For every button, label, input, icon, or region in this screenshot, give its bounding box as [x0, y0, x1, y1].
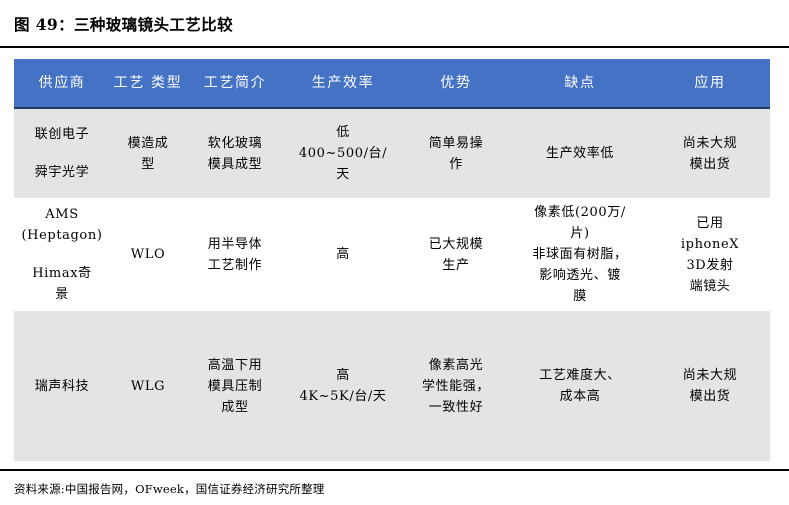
cell-process-type: 模造成 型 [110, 108, 186, 198]
supplier-line-1: 联创电子 [14, 124, 110, 145]
pros-line-1: 像素高光 [402, 355, 510, 376]
process-intro-line-1: 高温下用 [186, 355, 284, 376]
supplier-line-2: (Heptagon) [14, 225, 110, 246]
source-note: 资料来源:中国报告网，OFweek，国信证券经济研究所整理 [14, 482, 325, 496]
process-intro-line-3: 成型 [186, 397, 284, 418]
cell-efficiency: 高 [284, 198, 402, 311]
column-header-process-type-line1: 工艺 [114, 74, 145, 93]
cons-line-1: 工艺难度大、 [510, 365, 650, 386]
efficiency-line-1: 高 [284, 244, 402, 265]
column-header-process-intro-label: 工艺简介 [204, 74, 266, 93]
process-intro-line-2: 模具成型 [186, 154, 284, 175]
efficiency-line-2: 4K~5K/台/天 [284, 386, 402, 407]
cell-process-intro: 用半导体 工艺制作 [186, 198, 284, 311]
cell-pros: 像素高光 学性能强， 一致性好 [402, 311, 510, 461]
efficiency-line-1: 低 [284, 122, 402, 143]
source-divider-rule [0, 469, 789, 471]
column-header-process-type: 工艺 类型 [110, 59, 186, 108]
cell-process-type: WLO [110, 198, 186, 311]
application-line-2: iphoneX [650, 234, 770, 255]
column-header-cons-label: 缺点 [564, 74, 595, 93]
supplier-spacer [14, 246, 110, 263]
cons-line-5: 膜 [510, 286, 650, 307]
process-type-line-2: 型 [110, 154, 186, 175]
cell-cons: 工艺难度大、 成本高 [510, 311, 650, 461]
comparison-table-wrap: 供应商 工艺 类型 工艺简介 生产效率 优势 [14, 59, 770, 461]
column-header-process-type-line2: 类型 [151, 74, 182, 93]
process-type-line-1: 模造成 [110, 133, 186, 154]
efficiency-line-2: 400~500/台/ [284, 143, 402, 164]
figure-page: 图 49：三种玻璃镜头工艺比较 供应商 工艺 [0, 0, 789, 505]
table-row: AMS (Heptagon) Himax奇 景 WLO 用半导体 工艺制作 [14, 198, 770, 311]
supplier-line-1: 瑞声科技 [14, 376, 110, 397]
column-header-efficiency: 生产效率 [284, 59, 402, 108]
cell-cons: 生产效率低 [510, 108, 650, 198]
cell-efficiency: 低 400~500/台/ 天 [284, 108, 402, 198]
supplier-line-2: 舜宇光学 [14, 162, 110, 183]
column-header-efficiency-label: 生产效率 [312, 74, 374, 93]
pros-line-3: 一致性好 [402, 397, 510, 418]
cons-line-3: 非球面有树脂， [510, 244, 650, 265]
cell-supplier: 瑞声科技 [14, 311, 110, 461]
cell-application: 已用 iphoneX 3D发射 端镜头 [650, 198, 770, 311]
pros-line-1: 简单易操 [402, 133, 510, 154]
column-header-pros: 优势 [402, 59, 510, 108]
process-intro-line-1: 软化玻璃 [186, 133, 284, 154]
cell-process-intro: 软化玻璃 模具成型 [186, 108, 284, 198]
supplier-line-4: 景 [14, 284, 110, 305]
process-intro-line-2: 模具压制 [186, 376, 284, 397]
process-type-line-1: WLO [110, 244, 186, 265]
process-intro-line-2: 工艺制作 [186, 255, 284, 276]
supplier-spacer [14, 145, 110, 162]
cell-supplier: AMS (Heptagon) Himax奇 景 [14, 198, 110, 311]
application-line-2: 模出货 [650, 386, 770, 407]
efficiency-line-3: 天 [284, 164, 402, 185]
column-header-pros-label: 优势 [440, 74, 471, 93]
process-type-line-1: WLG [110, 376, 186, 397]
column-header-supplier: 供应商 [14, 59, 110, 108]
table-header-row: 供应商 工艺 类型 工艺简介 生产效率 优势 [14, 59, 770, 108]
column-header-supplier-label: 供应商 [39, 74, 86, 93]
cell-process-type: WLG [110, 311, 186, 461]
cons-line-2: 成本高 [510, 386, 650, 407]
application-line-3: 3D发射 [650, 255, 770, 276]
pros-line-2: 生产 [402, 255, 510, 276]
supplier-line-3: Himax奇 [14, 263, 110, 284]
application-line-2: 模出货 [650, 154, 770, 175]
comparison-table: 供应商 工艺 类型 工艺简介 生产效率 优势 [14, 59, 770, 461]
cell-process-intro: 高温下用 模具压制 成型 [186, 311, 284, 461]
application-line-1: 尚未大规 [650, 365, 770, 386]
table-row: 联创电子 舜宇光学 模造成 型 软化玻璃 模具成型 低 400~500/台 [14, 108, 770, 198]
source-block: 资料来源:中国报告网，OFweek，国信证券经济研究所整理 [14, 478, 774, 497]
page-title: 图 49：三种玻璃镜头工艺比较 [14, 13, 233, 35]
cons-line-1: 生产效率低 [510, 143, 650, 164]
process-intro-line-1: 用半导体 [186, 234, 284, 255]
cons-line-1: 像素低(200万/ [510, 202, 650, 223]
pros-line-1: 已大规模 [402, 234, 510, 255]
pros-line-2: 作 [402, 154, 510, 175]
cons-line-4: 影响透光、镀 [510, 265, 650, 286]
figure-title-block: 图 49：三种玻璃镜头工艺比较 [0, 0, 789, 47]
cell-efficiency: 高 4K~5K/台/天 [284, 311, 402, 461]
application-line-1: 已用 [650, 213, 770, 234]
column-header-application-label: 应用 [694, 74, 725, 93]
column-header-application: 应用 [650, 59, 770, 108]
application-line-1: 尚未大规 [650, 133, 770, 154]
cell-application: 尚未大规 模出货 [650, 311, 770, 461]
cell-supplier: 联创电子 舜宇光学 [14, 108, 110, 198]
table-header: 供应商 工艺 类型 工艺简介 生产效率 优势 [14, 59, 770, 108]
efficiency-line-1: 高 [284, 365, 402, 386]
supplier-line-1: AMS [14, 204, 110, 225]
cons-line-2: 片) [510, 223, 650, 244]
cell-pros: 简单易操 作 [402, 108, 510, 198]
application-line-4: 端镜头 [650, 276, 770, 297]
cell-pros: 已大规模 生产 [402, 198, 510, 311]
cell-cons: 像素低(200万/ 片) 非球面有树脂， 影响透光、镀 膜 [510, 198, 650, 311]
table-row: 瑞声科技 WLG 高温下用 模具压制 成型 高 4K~5K/台/天 [14, 311, 770, 461]
title-divider-rule [0, 46, 789, 48]
cell-application: 尚未大规 模出货 [650, 108, 770, 198]
column-header-cons: 缺点 [510, 59, 650, 108]
pros-line-2: 学性能强， [402, 376, 510, 397]
table-body: 联创电子 舜宇光学 模造成 型 软化玻璃 模具成型 低 400~500/台 [14, 108, 770, 461]
column-header-process-intro: 工艺简介 [186, 59, 284, 108]
